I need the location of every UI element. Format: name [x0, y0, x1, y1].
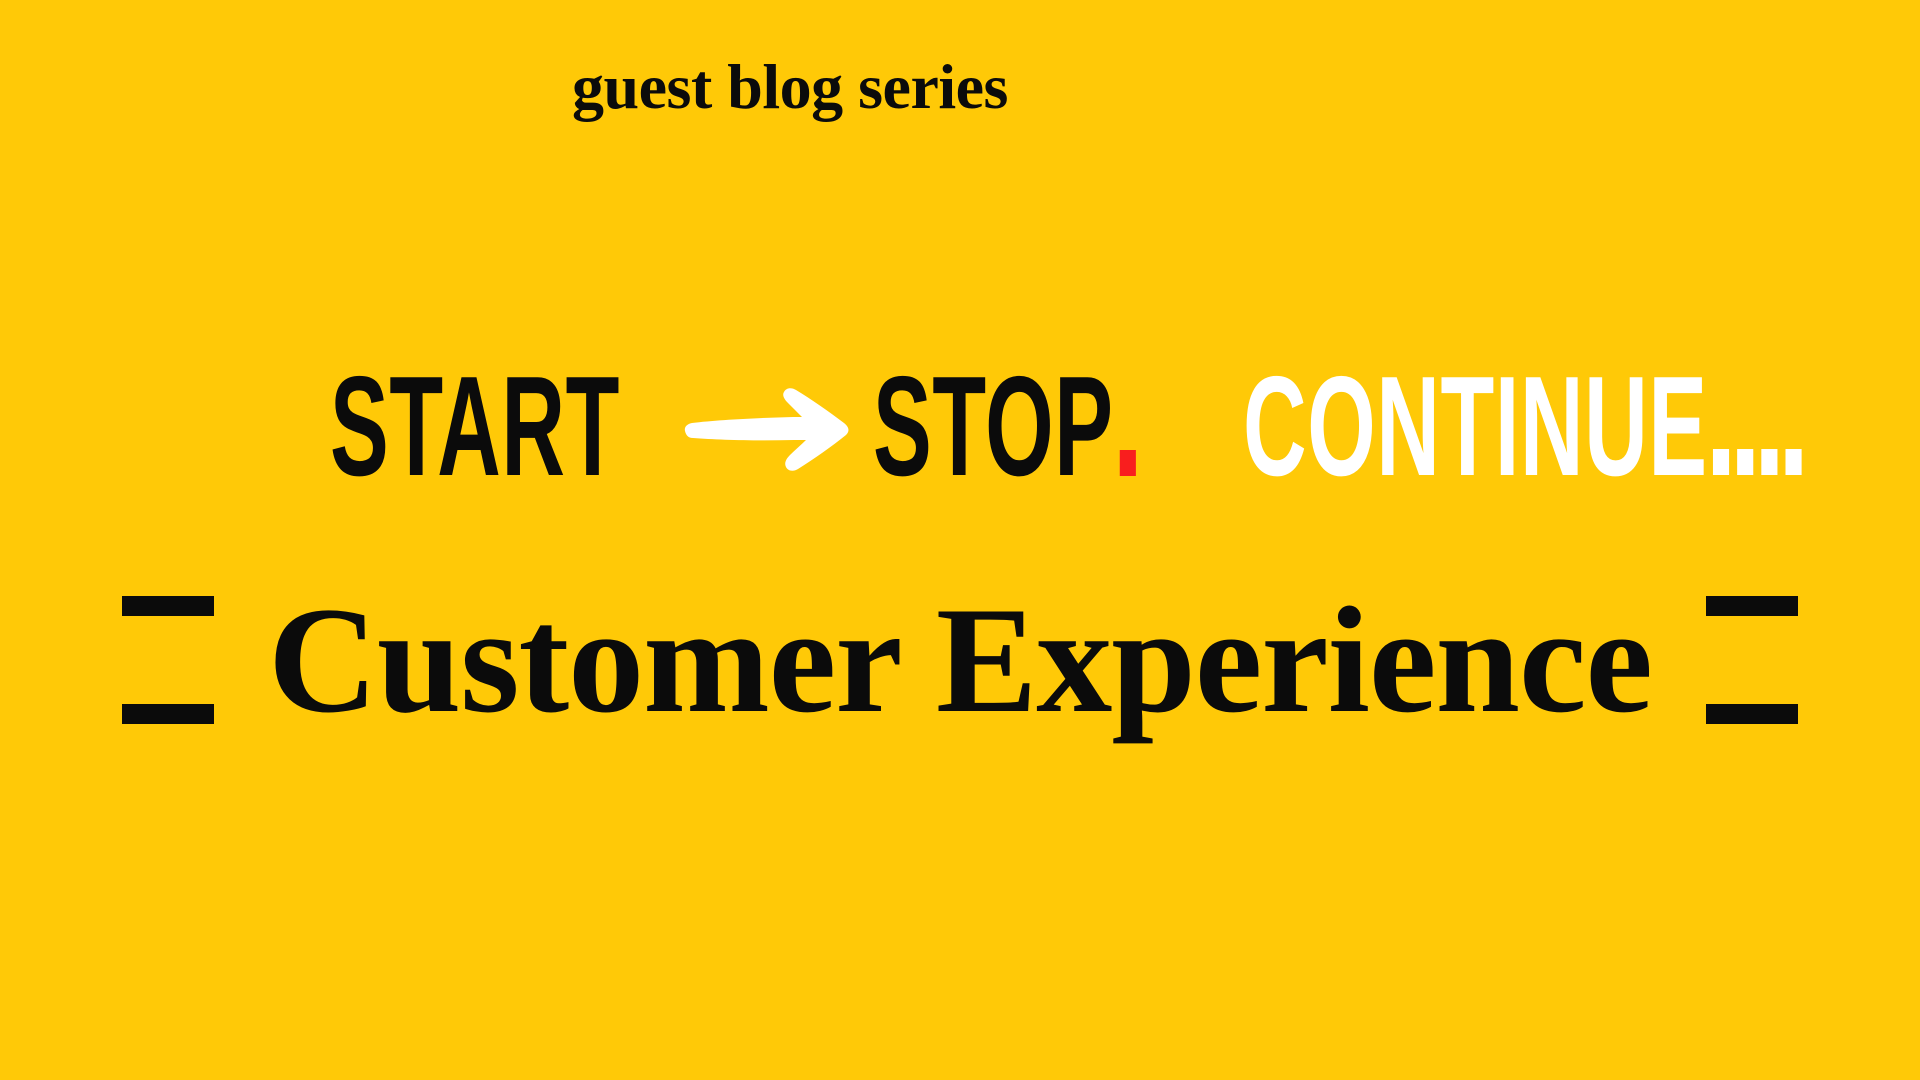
- word-stop-group: STOP: [873, 366, 1059, 488]
- word-stop: STOP: [873, 347, 1114, 506]
- word-continue-group: CONTINUE: [1243, 366, 1699, 488]
- equals-bar-bottom: [1706, 704, 1798, 724]
- headline-text: Customer Experience: [268, 584, 1652, 736]
- poster-canvas: guest blog series START STOP CONTINUE Cu…: [0, 0, 1920, 1080]
- continue-dot-2: [1737, 449, 1753, 475]
- equals-mark-left-icon: [122, 596, 214, 724]
- equals-bar-bottom: [122, 704, 214, 724]
- continue-dot-4: [1785, 449, 1801, 475]
- kicker-text: guest blog series: [0, 55, 1580, 119]
- continue-ellipsis-dots: [1713, 366, 1802, 488]
- continue-dot-3: [1761, 449, 1777, 475]
- continue-dot-1: [1713, 449, 1729, 475]
- action-row: START STOP CONTINUE: [330, 340, 1810, 515]
- stop-period-red-dot: [1120, 450, 1136, 476]
- arrow-right-hand-drawn-icon: [681, 373, 851, 483]
- equals-mark-right-icon: [1706, 596, 1798, 724]
- equals-bar-top: [122, 596, 214, 616]
- headline-row: Customer Experience: [0, 560, 1920, 760]
- word-continue: CONTINUE: [1243, 347, 1708, 506]
- equals-bar-top: [1706, 596, 1798, 616]
- word-start: START: [330, 366, 544, 488]
